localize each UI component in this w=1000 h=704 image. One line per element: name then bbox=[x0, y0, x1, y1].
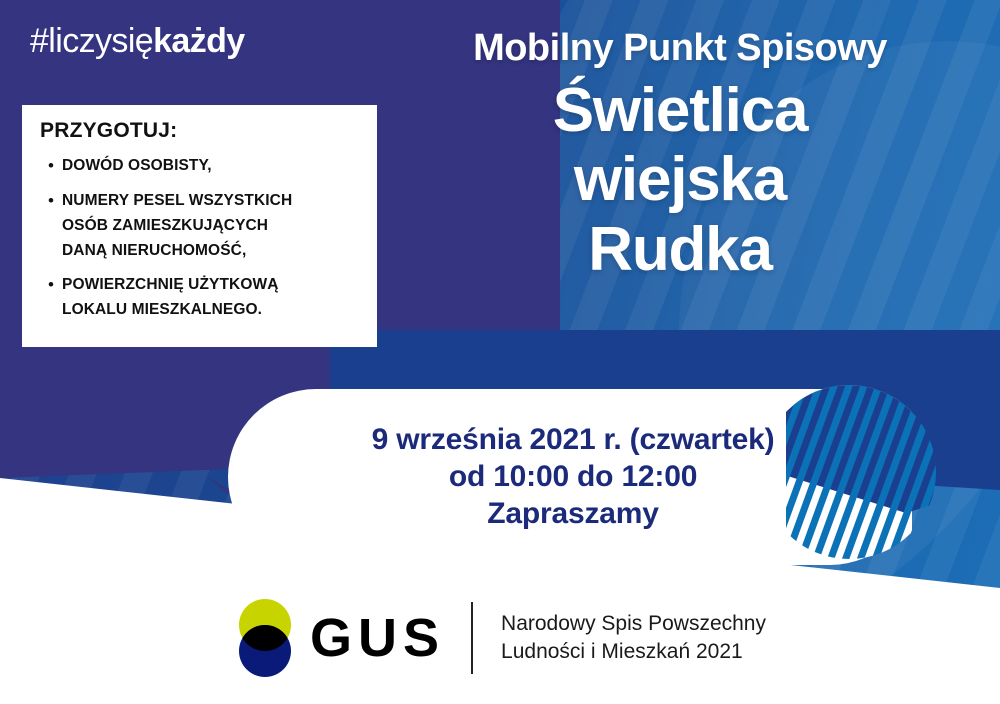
info-box-title: PRZYGOTUJ: bbox=[40, 119, 361, 143]
hashtag-bold-part: każdy bbox=[153, 22, 245, 60]
list-item-text: NUMERY PESEL WSZYSTKICH OSÓB ZAMIESZKUJĄ… bbox=[62, 188, 361, 263]
poster-title-line-3: Rudka bbox=[380, 215, 980, 284]
gus-circles-icon bbox=[234, 599, 296, 677]
gus-wordmark: GUS bbox=[310, 611, 445, 665]
census-tagline: Narodowy Spis Powszechny Ludności i Mies… bbox=[501, 610, 766, 667]
census-tagline-line-1: Narodowy Spis Powszechny bbox=[501, 610, 766, 638]
poster-canvas: 9 września 2021 r. (czwartek) od 10:00 d… bbox=[0, 0, 1000, 704]
list-item: • DOWÓD OSOBISTY, bbox=[40, 153, 361, 179]
event-hours: od 10:00 do 12:00 bbox=[449, 460, 697, 494]
list-item-line: NUMERY PESEL WSZYSTKICH bbox=[62, 192, 292, 209]
poster-subtitle: Mobilny Punkt Spisowy bbox=[380, 28, 980, 70]
footer-bar: GUS Narodowy Spis Powszechny Ludności i … bbox=[0, 588, 1000, 688]
event-date: 9 września 2021 r. (czwartek) bbox=[372, 423, 775, 457]
footer-divider bbox=[471, 602, 473, 674]
title-block: Mobilny Punkt Spisowy Świetlica wiejska … bbox=[380, 28, 980, 284]
bullet-icon: • bbox=[40, 188, 62, 214]
hashtag-light-part: #liczysię bbox=[30, 22, 153, 60]
list-item: • POWIERZCHNIĘ UŻYTKOWĄ LOKALU MIESZKALN… bbox=[40, 272, 361, 322]
poster-title-line-1: Świetlica bbox=[380, 76, 980, 145]
event-invite: Zapraszamy bbox=[487, 497, 658, 531]
list-item-line: DOWÓD OSOBISTY, bbox=[62, 157, 212, 174]
preparation-info-box: PRZYGOTUJ: • DOWÓD OSOBISTY, • NUMERY PE… bbox=[22, 105, 377, 347]
info-box-list: • DOWÓD OSOBISTY, • NUMERY PESEL WSZYSTK… bbox=[40, 153, 361, 322]
census-tagline-line-2: Ludności i Mieszkań 2021 bbox=[501, 638, 766, 666]
event-details: 9 września 2021 r. (czwartek) od 10:00 d… bbox=[228, 389, 918, 565]
list-item-line: LOKALU MIESZKALNEGO. bbox=[62, 301, 262, 318]
list-item-line: OSÓB ZAMIESZKUJĄCYCH bbox=[62, 217, 268, 234]
list-item-line: DANĄ NIERUCHOMOŚĆ, bbox=[62, 242, 246, 259]
bullet-icon: • bbox=[40, 272, 62, 298]
list-item-text: DOWÓD OSOBISTY, bbox=[62, 153, 361, 178]
campaign-hashtag: #liczysiękażdy bbox=[30, 22, 245, 61]
list-item: • NUMERY PESEL WSZYSTKICH OSÓB ZAMIESZKU… bbox=[40, 188, 361, 263]
poster-title: Świetlica wiejska Rudka bbox=[380, 76, 980, 284]
bullet-icon: • bbox=[40, 153, 62, 179]
list-item-text: POWIERZCHNIĘ UŻYTKOWĄ LOKALU MIESZKALNEG… bbox=[62, 272, 361, 322]
list-item-line: POWIERZCHNIĘ UŻYTKOWĄ bbox=[62, 276, 279, 293]
poster-title-line-2: wiejska bbox=[380, 145, 980, 214]
gus-logo: GUS bbox=[234, 599, 445, 677]
